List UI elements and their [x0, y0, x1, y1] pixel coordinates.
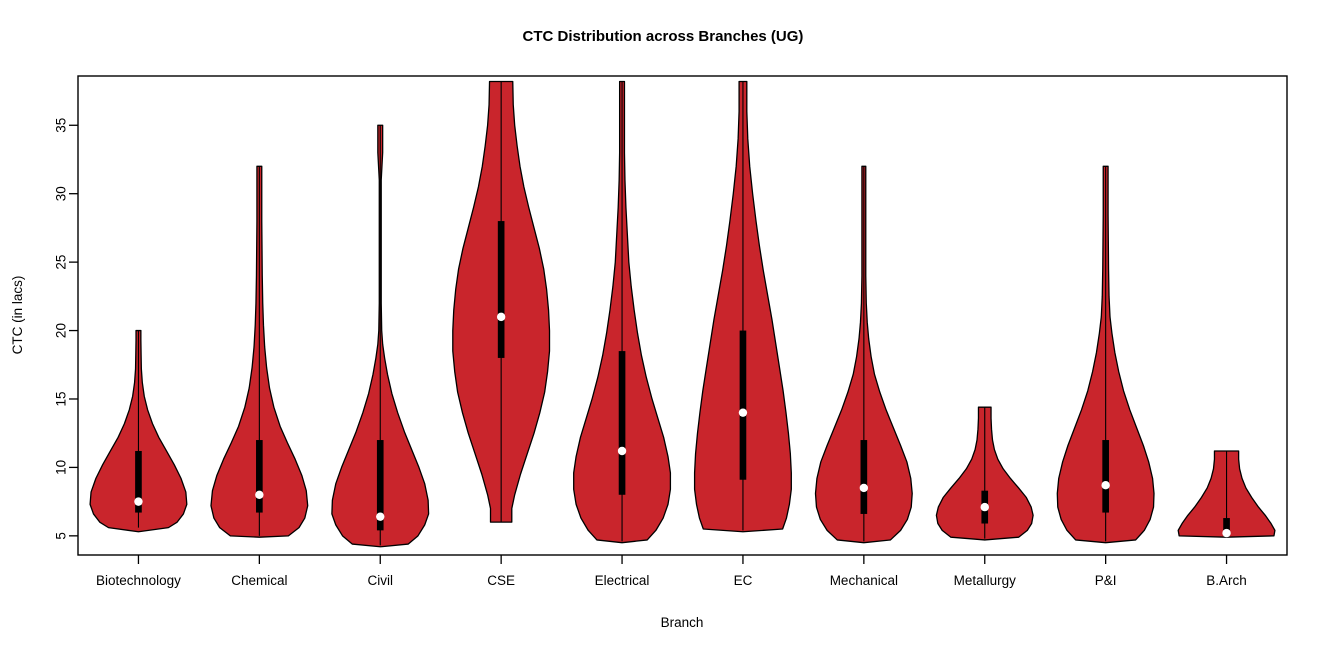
x-tick-label-mechanical: Mechanical	[830, 573, 898, 588]
violin-plot-figure: CTC Distribution across Branches (UG) 51…	[0, 0, 1327, 653]
chart-title: CTC Distribution across Branches (UG)	[523, 28, 804, 45]
x-tick-label-ec: EC	[734, 573, 753, 588]
median-marker	[860, 484, 868, 492]
median-marker	[255, 491, 263, 499]
median-marker	[134, 497, 142, 505]
y-tick-label: 5	[54, 532, 69, 540]
y-axis-title: CTC (in lacs)	[10, 276, 25, 355]
y-tick-label: 35	[54, 118, 69, 133]
median-marker	[618, 447, 626, 455]
iqr-box	[1102, 440, 1109, 513]
median-marker	[981, 503, 989, 511]
y-tick-label: 15	[54, 391, 69, 406]
y-tick-label: 20	[54, 323, 69, 338]
x-tick-label-b-arch: B.Arch	[1206, 573, 1247, 588]
x-tick-label-electrical: Electrical	[595, 573, 650, 588]
median-marker	[1101, 481, 1109, 489]
median-marker	[376, 512, 384, 520]
iqr-box	[619, 351, 626, 495]
x-tick-label-biotechnology: Biotechnology	[96, 573, 181, 588]
median-marker	[1222, 529, 1230, 537]
x-axis-title: Branch	[661, 615, 704, 630]
y-tick-label: 25	[54, 255, 69, 270]
iqr-box	[740, 331, 747, 480]
chart-canvas: CTC Distribution across Branches (UG) 51…	[0, 0, 1327, 653]
x-tick-label-p-i: P&I	[1095, 573, 1117, 588]
median-marker	[497, 313, 505, 321]
x-tick-label-chemical: Chemical	[231, 573, 287, 588]
x-tick-label-cse: CSE	[487, 573, 515, 588]
x-tick-label-metallurgy: Metallurgy	[954, 573, 1017, 588]
median-marker	[739, 408, 747, 416]
iqr-box	[498, 221, 505, 358]
y-tick-label: 10	[54, 460, 69, 475]
y-tick-label: 30	[54, 186, 69, 201]
iqr-box	[861, 440, 868, 514]
x-tick-label-civil: Civil	[368, 573, 394, 588]
iqr-box	[256, 440, 263, 513]
